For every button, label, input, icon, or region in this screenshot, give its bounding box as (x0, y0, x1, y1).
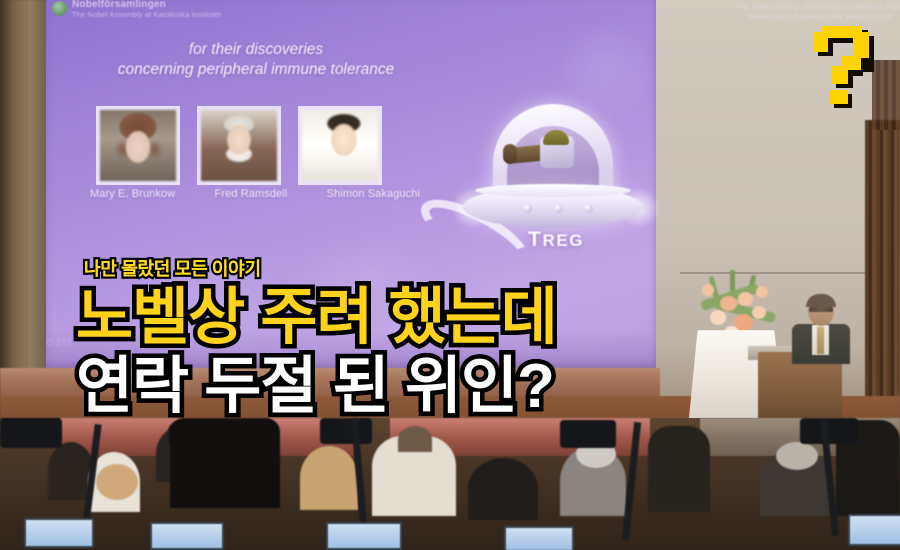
laureate-name-2: Fred Ramsdell (215, 188, 288, 200)
headline-line-1: 노벨상 주려 했는데 (76, 288, 557, 348)
treg-label-rest: REG (542, 231, 584, 250)
slide-organization: Nobelförsamlingen The Nobel Assembly at … (72, 0, 221, 19)
press-audience (0, 418, 900, 550)
slide-prize-heading: The Nobel Prize in Physiology or Medicin… (655, 2, 900, 22)
spaceship-pilot-hand (503, 144, 517, 164)
org-name: Nobelförsamlingen (72, 0, 221, 11)
laureate-photo-3 (298, 106, 382, 185)
laureate-name-3: Shimon Sakaguchi (327, 188, 420, 200)
wood-slat-panel (865, 120, 900, 420)
laureate-photo-2 (197, 106, 281, 185)
spaceship-pilot-helmet (543, 130, 569, 145)
treg-spaceship-illustration: TREG (455, 100, 655, 250)
citation-line-2: concerning peripheral immune tolerance (46, 60, 466, 80)
prize-title-sv: Nobelpriset i Fysiologi eller Medicin 20… (655, 12, 900, 22)
headline-line-1-outline: 노벨상 주려 했는데 노벨상 주려 했는데 (76, 288, 836, 348)
citation-line-1: for their discoveries (46, 40, 466, 60)
laureate-name-1: Mary E. Brunkow (90, 188, 175, 200)
laureate-names: Mary E. Brunkow Fred Ramsdell Shimon Sak… (90, 188, 420, 200)
series-badge: 나만 몰랐던 모든 이야기 (84, 255, 261, 281)
headline-line-2-outline: 연락 두절 된 위인? 연락 두절 된 위인? (76, 357, 836, 417)
nobel-globe-icon (52, 1, 67, 16)
prize-title-en: The Nobel Prize in Physiology or Medicin… (655, 2, 900, 12)
slide-citation: for their discoveries concerning periphe… (46, 40, 466, 81)
screenshot-frame: Nobelförsamlingen The Nobel Assembly at … (0, 0, 900, 550)
spaceship-rim (475, 184, 631, 197)
question-mark-icon (812, 22, 884, 102)
headline-block: 노벨상 주려 했는데 노벨상 주려 했는데 연락 두절 된 위인? 연락 두절 … (76, 288, 836, 417)
laureate-photo-1 (96, 106, 180, 185)
treg-label: TREG (528, 228, 584, 252)
spaceship-lights (523, 204, 593, 213)
laureate-portraits (96, 106, 382, 185)
treg-label-cap: T (528, 228, 542, 251)
slide-watermark: O2O (46, 337, 72, 349)
headline-line-2: 연락 두절 된 위인? (76, 357, 554, 417)
org-subtitle: The Nobel Assembly at Karolinska Institu… (72, 11, 221, 20)
